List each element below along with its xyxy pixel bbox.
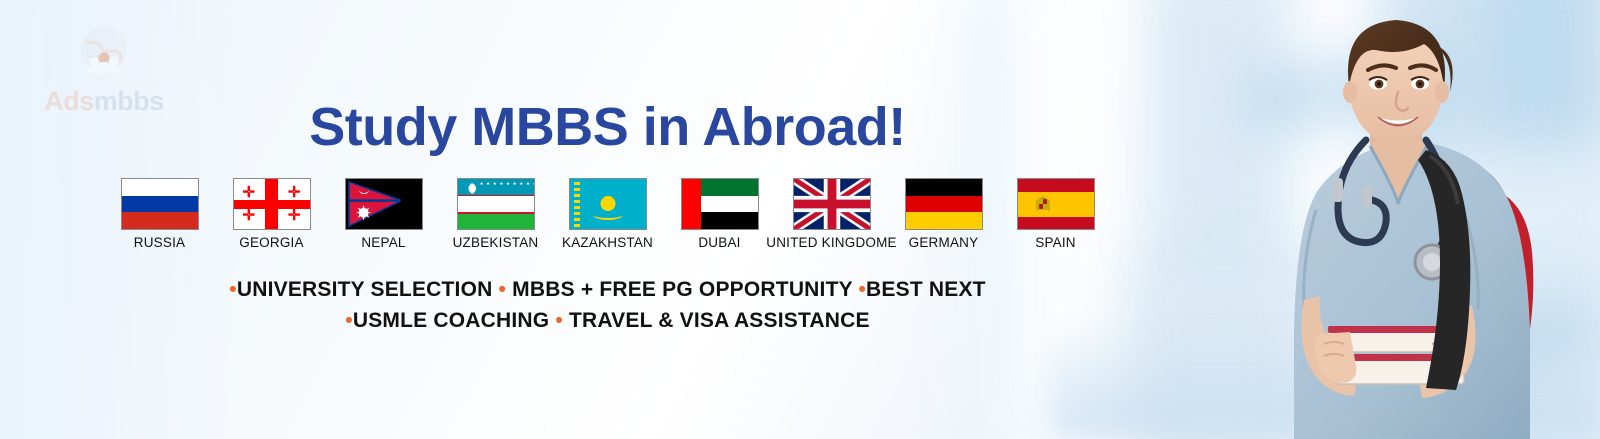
flag-nepal-icon [345, 178, 423, 230]
bullet-dot-icon: • [499, 278, 507, 301]
flag-label: KAZAKHSTAN [562, 235, 653, 250]
flag-label: GEORGIA [239, 235, 303, 250]
features-block: •UNIVERSITY SELECTION • MBBS + FREE PG O… [0, 274, 1215, 336]
flag-uae-icon [681, 178, 759, 230]
flag-united-kingdom-icon [793, 178, 871, 230]
flag-georgia-icon: ✛✛ ✛✛ [233, 178, 311, 230]
feature-best-next: BEST NEXT [866, 278, 986, 301]
feature-line-1: •UNIVERSITY SELECTION • MBBS + FREE PG O… [0, 274, 1215, 305]
flags-row: RUSSIA ✛✛ ✛✛ GEORGIA [0, 178, 1215, 250]
flag-spain-icon [1017, 178, 1095, 230]
flag-item-russia: RUSSIA [111, 178, 209, 250]
flag-label: DUBAI [698, 235, 740, 250]
flag-item-kazakhstan: KAZAKHSTAN [559, 178, 657, 250]
student-nurse-photo [1220, 0, 1600, 439]
flag-item-georgia: ✛✛ ✛✛ GEORGIA [223, 178, 321, 250]
flag-label: GERMANY [909, 235, 979, 250]
feature-travel-visa-assistance: TRAVEL & VISA ASSISTANCE [569, 309, 870, 332]
flag-item-dubai: DUBAI [671, 178, 769, 250]
flag-label: UZBEKISTAN [453, 235, 539, 250]
flag-label: NEPAL [361, 235, 405, 250]
bullet-dot-icon: • [345, 309, 353, 332]
flag-germany-icon [905, 178, 983, 230]
flag-item-nepal: NEPAL [335, 178, 433, 250]
flag-item-uzbekistan: ★★★★★★★★★★★★ UZBEKISTAN [447, 178, 545, 250]
feature-free-pg-opportunity: MBBS + FREE PG OPPORTUNITY [512, 278, 852, 301]
bullet-dot-icon: • [555, 309, 563, 332]
page-title: Study MBBS in Abroad! [0, 96, 1215, 158]
flag-russia-icon [121, 178, 199, 230]
bullet-dot-icon: • [229, 278, 237, 301]
flag-item-spain: SPAIN [1007, 178, 1105, 250]
flag-label: UNITED KINGDOME [766, 235, 897, 250]
globe-people-icon [72, 22, 136, 86]
flag-item-germany: GERMANY [895, 178, 993, 250]
flag-label: SPAIN [1035, 235, 1076, 250]
feature-line-2: •USMLE COACHING • TRAVEL & VISA ASSISTAN… [0, 305, 1215, 336]
banner-root: Adsmbbs Study MBBS in Abroad! RUSSIA ✛✛ … [0, 0, 1600, 439]
feature-university-selection: UNIVERSITY SELECTION [237, 278, 493, 301]
feature-usmle-coaching: USMLE COACHING [353, 309, 549, 332]
flag-uzbekistan-icon: ★★★★★★★★★★★★ [457, 178, 535, 230]
flag-kazakhstan-icon [569, 178, 647, 230]
flag-label: RUSSIA [134, 235, 185, 250]
bullet-dot-icon: • [858, 278, 866, 301]
flag-item-united-kingdom: UNITED KINGDOME [783, 178, 881, 250]
